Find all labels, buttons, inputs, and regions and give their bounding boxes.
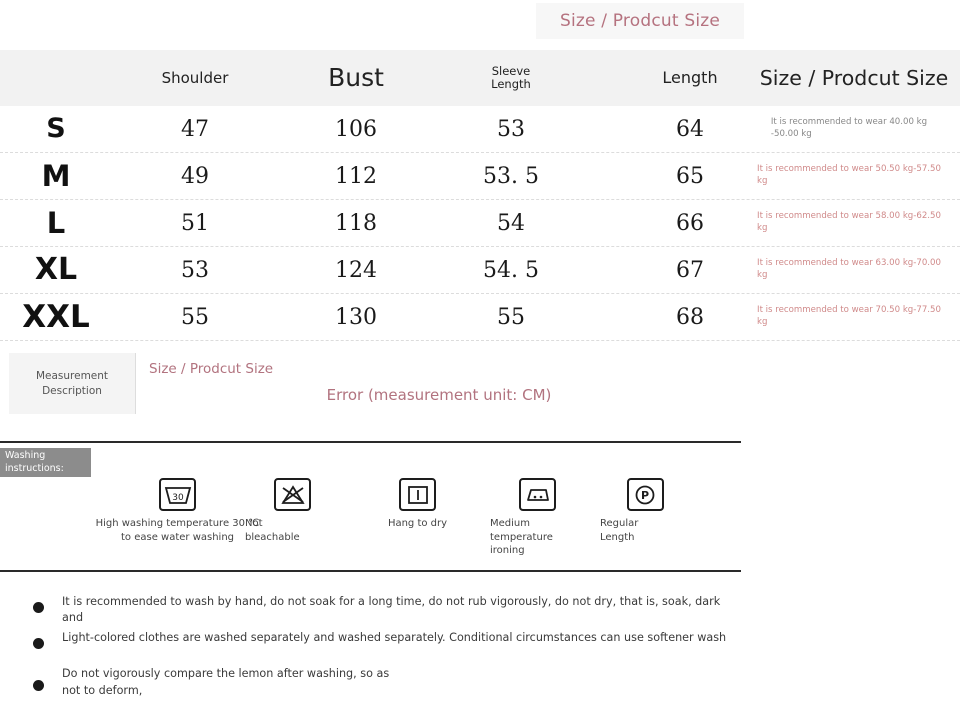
- bullet-dot-icon: [33, 680, 44, 691]
- cell-size: XXL: [0, 294, 112, 340]
- cell-recommendation: It is recommended to wear 63.00 kg-70.00…: [742, 247, 954, 293]
- cell-bust: 112: [282, 153, 430, 199]
- list-item: Light-colored clothes are washed separat…: [0, 630, 741, 662]
- bullet-dot-icon: [33, 602, 44, 613]
- size-table-body: S 47 106 53 64 It is recommended to wear…: [0, 106, 960, 341]
- column-header-sleeve-length: Sleeve Length: [446, 50, 576, 106]
- top-size-chip-label: Size / Prodcut Size: [560, 11, 720, 31]
- measurement-error-note: Error (measurement unit: CM): [137, 386, 741, 404]
- cell-shoulder: 47: [120, 106, 270, 152]
- sleeve-header-line2: Length: [491, 78, 531, 91]
- table-row: S 47 106 53 64 It is recommended to wear…: [0, 106, 960, 153]
- table-row: M 49 112 53. 5 65 It is recommended to w…: [0, 153, 960, 200]
- care-caption: Medium temperature ironing: [490, 517, 585, 558]
- svg-text:30: 30: [172, 493, 184, 503]
- list-item: Do not vigorously compare the lemon afte…: [0, 666, 741, 698]
- hang-to-dry-icon: [399, 478, 436, 511]
- table-row: XXL 55 130 55 68 It is recommended to we…: [0, 294, 960, 341]
- measurement-description-body: Size / Prodcut Size Error (measurement u…: [137, 353, 741, 414]
- professional-clean-p-icon: P: [627, 478, 664, 511]
- care-caption: High washing temperature 30 ℃ to ease wa…: [95, 517, 260, 544]
- list-item: It is recommended to wash by hand, do no…: [0, 594, 741, 626]
- table-row: XL 53 124 54. 5 67 It is recommended to …: [0, 247, 960, 294]
- column-header-size: [0, 50, 112, 106]
- iron-medium-icon: [519, 478, 556, 511]
- cell-recommendation: It is recommended to wear 70.50 kg-77.50…: [742, 294, 954, 340]
- note-text: Light-colored clothes are washed separat…: [62, 630, 726, 646]
- care-symbol-professional-clean: P Regular Length: [600, 478, 690, 544]
- column-header-bust: Bust: [282, 50, 430, 106]
- table-header-row: Shoulder Bust Sleeve Length Length Size …: [0, 50, 960, 106]
- cell-sleeve-length: 55: [446, 294, 576, 340]
- care-symbols-row: 30 High washing temperature 30 ℃ to ease…: [0, 478, 741, 564]
- cell-shoulder: 49: [120, 153, 270, 199]
- care-notes-list: It is recommended to wash by hand, do no…: [0, 592, 741, 703]
- care-symbol-wash-30: 30 High washing temperature 30 ℃ to ease…: [95, 478, 260, 544]
- cell-shoulder: 55: [120, 294, 270, 340]
- cell-sleeve-length: 53. 5: [446, 153, 576, 199]
- size-chart-page: Size / Prodcut Size Shoulder Bust Sleeve…: [0, 0, 960, 698]
- measurement-description-label: Measurement Description: [9, 353, 136, 414]
- care-symbol-no-bleach: Not bleachable: [245, 478, 340, 544]
- measurement-title: Size / Prodcut Size: [149, 361, 273, 377]
- note-text: Do not vigorously compare the lemon afte…: [62, 666, 389, 698]
- no-bleach-icon: [274, 478, 311, 511]
- wash-tub-30-icon: 30: [159, 478, 196, 511]
- note-text: It is recommended to wash by hand, do no…: [62, 594, 741, 626]
- cell-size: XL: [0, 247, 112, 293]
- cell-sleeve-length: 54. 5: [446, 247, 576, 293]
- washing-instructions-badge: Washing instructions:: [0, 448, 91, 477]
- column-header-recommendation: Size / Prodcut Size: [742, 50, 960, 106]
- cell-size: L: [0, 200, 112, 246]
- cell-bust: 124: [282, 247, 430, 293]
- bullet-dot-icon: [33, 638, 44, 649]
- cell-recommendation: It is recommended to wear 40.00 kg -50.0…: [742, 106, 954, 152]
- measurement-description-block: Measurement Description Size / Prodcut S…: [9, 353, 741, 414]
- divider-above-notes: [0, 570, 741, 572]
- divider-above-washing: [0, 441, 741, 443]
- cell-bust: 106: [282, 106, 430, 152]
- care-caption: Regular Length: [600, 517, 690, 544]
- care-symbol-hang-to-dry: Hang to dry: [370, 478, 465, 531]
- care-caption: Hang to dry: [370, 517, 465, 531]
- svg-text:P: P: [641, 489, 649, 502]
- table-row: L 51 118 54 66 It is recommended to wear…: [0, 200, 960, 247]
- cell-recommendation: It is recommended to wear 50.50 kg-57.50…: [742, 153, 954, 199]
- cell-shoulder: 51: [120, 200, 270, 246]
- cell-bust: 118: [282, 200, 430, 246]
- cell-shoulder: 53: [120, 247, 270, 293]
- care-caption: Not bleachable: [245, 517, 340, 544]
- cell-size: S: [0, 106, 112, 152]
- care-symbol-iron-medium: Medium temperature ironing: [490, 478, 585, 558]
- top-size-chip: Size / Prodcut Size: [536, 3, 744, 39]
- column-header-shoulder: Shoulder: [120, 50, 270, 106]
- cell-sleeve-length: 53: [446, 106, 576, 152]
- cell-recommendation: It is recommended to wear 58.00 kg-62.50…: [742, 200, 954, 246]
- cell-bust: 130: [282, 294, 430, 340]
- cell-sleeve-length: 54: [446, 200, 576, 246]
- cell-size: M: [0, 153, 112, 199]
